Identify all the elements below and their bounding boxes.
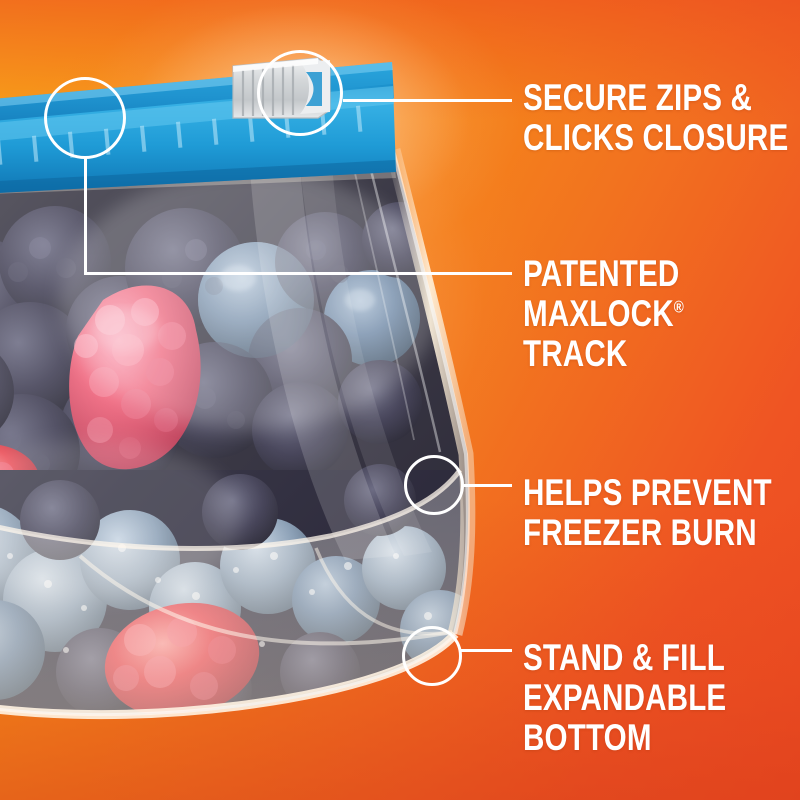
label-line: CLICKS CLOSURE [523,118,788,158]
label-line: HELPS PREVENT [523,473,772,513]
infographic-canvas: SECURE ZIPS & CLICKS CLOSURE PATENTED MA… [0,0,800,800]
callout-leader-maxlock-vertical [84,156,87,275]
label-line: MAXLOCK® [523,294,684,334]
label-line: FREEZER BURN [523,513,772,553]
label-line: BOTTOM [523,718,726,758]
callout-ring-icon-secure-zips [257,50,343,136]
callout-label-secure-zips: SECURE ZIPS & CLICKS CLOSURE [523,78,788,158]
callout-leader-maxlock-horizontal [84,272,512,275]
callout-leader-stand-fill [461,649,512,652]
label-line: STAND & FILL [523,638,726,678]
callout-leader-freezer-burn [463,484,512,487]
label-line: TRACK [523,334,684,374]
label-line: PATENTED [523,254,684,294]
callout-label-maxlock: PATENTED MAXLOCK® TRACK [523,254,684,374]
label-line: SECURE ZIPS & [523,78,788,118]
callout-leader-secure-zips [343,99,512,102]
callout-label-freezer-burn: HELPS PREVENT FREEZER BURN [523,473,772,553]
callout-ring-icon-freezer-burn [404,455,464,515]
callout-ring-icon-maxlock [44,77,126,159]
label-line: EXPANDABLE [523,678,726,718]
callout-ring-icon-stand-fill [402,626,462,686]
callout-label-stand-fill: STAND & FILL EXPANDABLE BOTTOM [523,638,726,758]
